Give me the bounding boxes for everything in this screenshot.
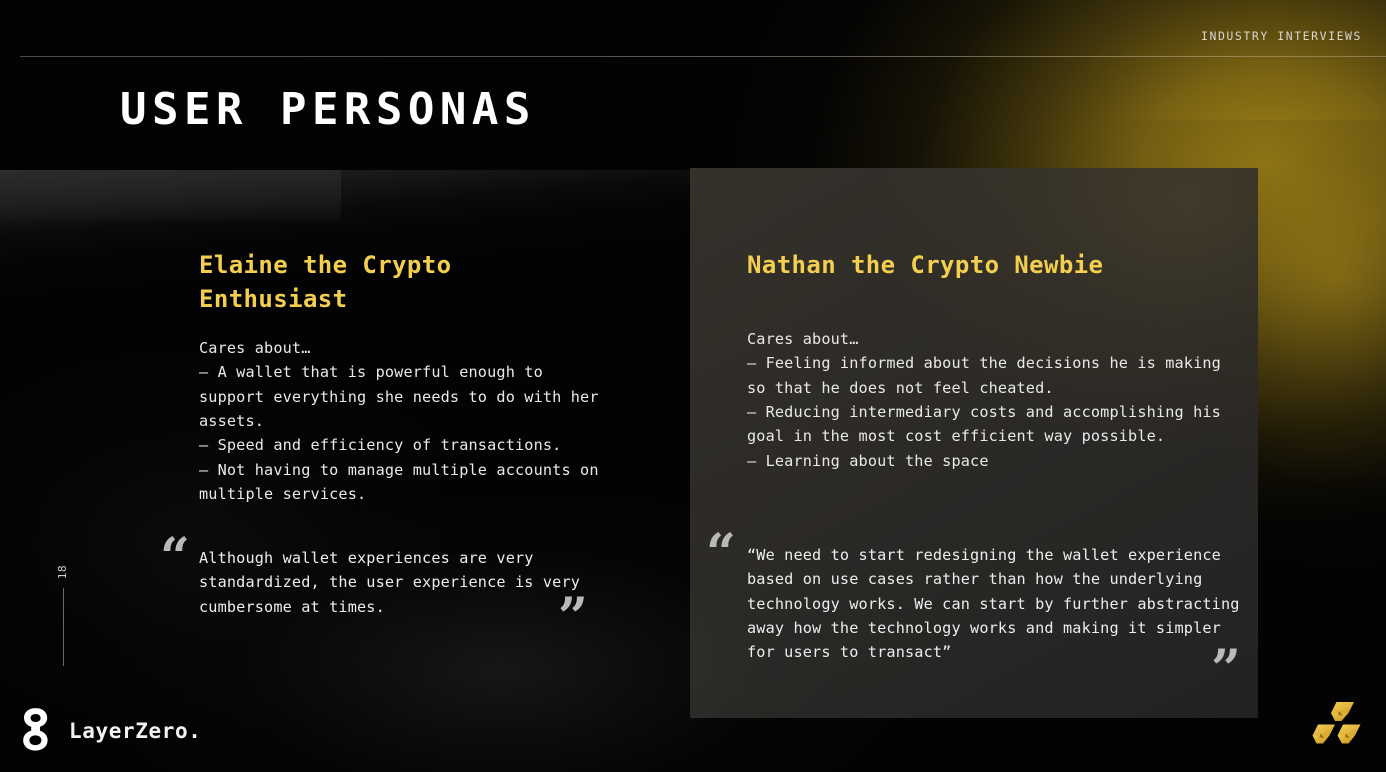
- footer-logo: LayerZero.: [22, 706, 201, 756]
- quote-close-icon: ”: [558, 592, 588, 644]
- layerzero-mark-icon: [22, 706, 56, 756]
- footer-logo-text: LayerZero.: [69, 719, 201, 743]
- page-number-group: 18: [56, 565, 70, 666]
- persona-body-nathan: Cares about… — Feeling informed about th…: [747, 327, 1227, 473]
- gold-triangular-mark-icon: [1310, 698, 1368, 756]
- page-title: USER PERSONAS: [120, 88, 536, 132]
- persona-name-elaine: Elaine the Crypto Enthusiast: [199, 248, 599, 316]
- persona-name-nathan: Nathan the Crypto Newbie: [747, 248, 1227, 282]
- quote-text-nathan: “We need to start redesigning the wallet…: [747, 543, 1256, 664]
- page-number: 18: [56, 565, 70, 579]
- quote-open-icon: “: [160, 532, 190, 584]
- persona-quote-elaine: “ Although wallet experiences are very s…: [160, 536, 600, 619]
- slide-root: INDUSTRY INTERVIEWS USER PERSONAS Elaine…: [0, 0, 1386, 772]
- persona-block-nathan: Nathan the Crypto Newbie Cares about… — …: [747, 248, 1227, 473]
- persona-body-elaine: Cares about… — A wallet that is powerful…: [199, 336, 599, 506]
- header-divider: [20, 56, 1386, 57]
- persona-card-elaine-band: [0, 170, 341, 222]
- persona-quote-nathan: “ “We need to start redesigning the wall…: [706, 532, 1256, 664]
- quote-close-icon: ”: [1211, 644, 1241, 696]
- page-number-rule: [63, 588, 64, 666]
- persona-block-elaine: Elaine the Crypto Enthusiast Cares about…: [199, 248, 599, 506]
- quote-text-elaine: Although wallet experiences are very sta…: [199, 546, 600, 619]
- section-eyebrow: INDUSTRY INTERVIEWS: [1201, 29, 1362, 43]
- quote-open-icon: “: [706, 528, 736, 580]
